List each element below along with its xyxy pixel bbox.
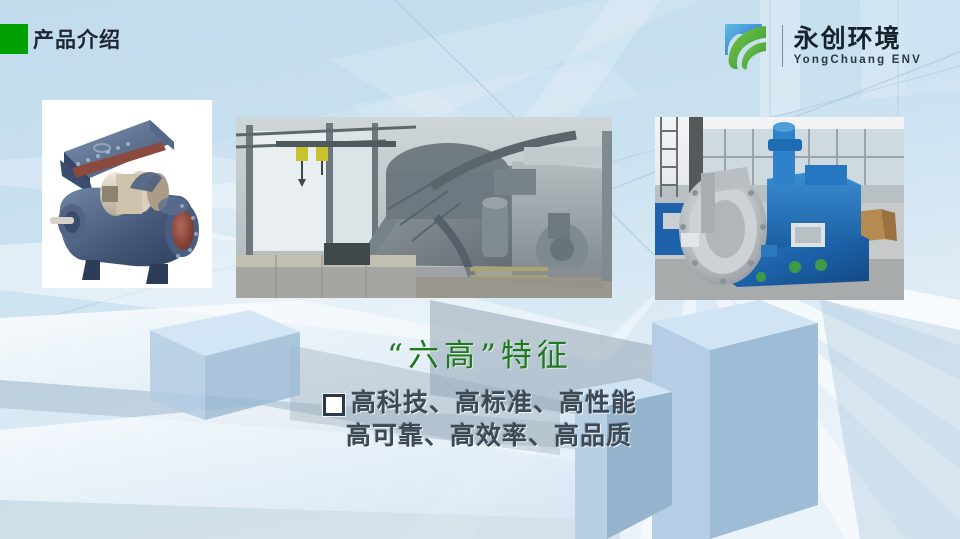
slide-header: 产品介绍 (0, 0, 960, 86)
feature-body: 高科技、高标准、高性能 高可靠、高效率、高品质 (0, 386, 960, 452)
pump-illustration (42, 100, 212, 288)
photo-blue-blower (655, 117, 904, 300)
feature-line-1-text: 高科技、高标准、高性能 (351, 388, 637, 417)
logo-divider (782, 25, 783, 67)
photo-split-case-pump (42, 100, 212, 288)
logo-name-cn: 永创环境 (794, 25, 922, 52)
feature-heading: “六高”特征 (0, 330, 960, 375)
plant-illustration (236, 117, 612, 298)
page-title: 产品介绍 (33, 25, 121, 55)
logo-name-en: YongChuang ENV (794, 53, 922, 67)
feature-line-2: 高可靠、高效率、高品质 (0, 419, 960, 452)
square-bullet-icon (323, 394, 345, 416)
logo-text: 永创环境 YongChuang ENV (794, 25, 922, 67)
blower-illustration (655, 117, 904, 300)
logo-mark-svg (722, 22, 774, 70)
feature-line-1: 高科技、高标准、高性能 (0, 386, 960, 419)
photo-industrial-plant (236, 117, 612, 298)
section-marker (0, 24, 28, 54)
logo-leaf-icon (722, 22, 774, 70)
company-logo: 永创环境 YongChuang ENV (722, 20, 922, 72)
presentation-slide: 产品介绍 (0, 0, 960, 539)
